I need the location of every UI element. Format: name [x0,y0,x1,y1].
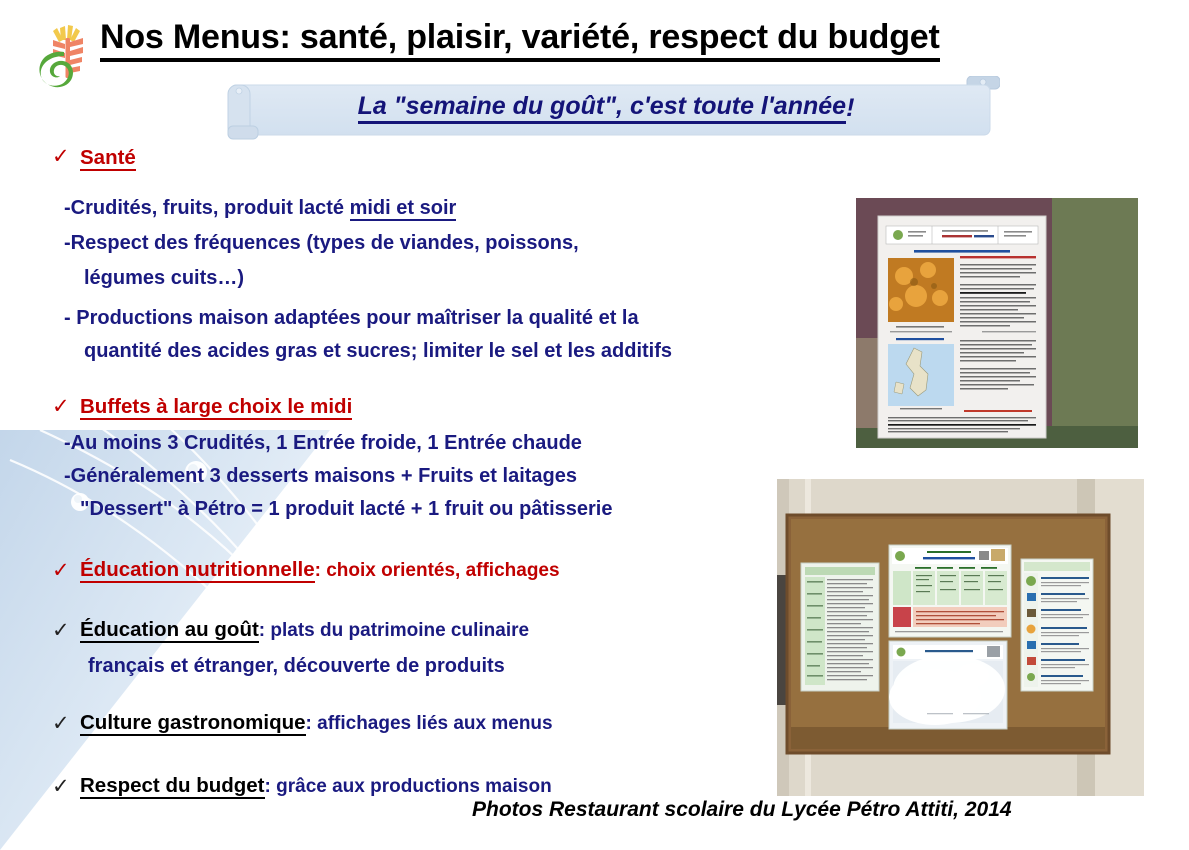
sante-line-4-pre: Productions maison adaptées pour maîtris… [71,307,639,329]
scroll-banner-underlined: La "semaine du goût", c'est toute l'anné… [358,92,846,124]
buffets-line-2-pre: Généralement 3 desserts maisons + Fruits… [71,465,577,487]
bullet-respect-du-budget-desc: : grâce aux productions maison [265,776,552,797]
sante-line-3: légumes cuits…) [84,267,244,290]
bullet-respect-du-budget-label: Respect du budget [80,774,265,799]
buffets-line-1-pre: Au moins 3 Crudités, 1 Entrée froide, 1 … [71,432,582,454]
bullet-education-au-gout: Éducation au goût: plats du patrimoine c… [80,618,529,642]
photo-affiche-murale [856,198,1138,448]
dash-marker: - [64,307,71,330]
lycee-logo-icon [36,22,98,88]
bullet-education-nutritionnelle-label: Éducation nutritionnelle [80,558,315,583]
bullet-education-au-gout-desc: : plats du patrimoine culinaire [259,620,529,641]
sante-line-4: - Productions maison adaptées pour maîtr… [64,307,639,330]
check-icon-respect-du-budget: ✓ [52,776,70,797]
bullet-culture-gastronomique-desc: : affichages liés aux menus [306,713,553,734]
bullet-respect-du-budget: Respect du budget: grâce aux productions… [80,774,552,798]
slide-title: Nos Menus: santé, plaisir, variété, resp… [100,18,1140,62]
sante-line-1-pre: Crudités, fruits, produit lacté [71,197,350,219]
sante-line-2-pre: Respect des fréquences (types de viandes… [71,232,579,254]
dash-marker: - [64,232,71,255]
bullet-education-nutritionnelle-desc: : choix orientés, affichages [315,560,560,581]
sante-line-5-pre: quantité des acides gras et sucres; limi… [84,340,672,362]
check-icon-sante: ✓ [52,146,70,167]
check-icon-education-nutritionnelle: ✓ [52,560,70,581]
bullet-culture-gastronomique: Culture gastronomique: affichages liés a… [80,711,553,735]
dash-marker: - [64,197,71,220]
dash-marker: - [64,432,71,455]
buffets-line-2: - Généralement 3 desserts maisons + Frui… [64,465,577,488]
bullet-education-au-gout-label: Éducation au goût [80,618,259,643]
check-icon-education-au-gout: ✓ [52,620,70,641]
buffets-line-3: "Dessert" à Pétro = 1 produit lacté + 1 … [80,498,612,521]
sante-line-5: quantité des acides gras et sucres; limi… [84,340,672,363]
heading-buffets: Buffets à large choix le midi [80,395,352,419]
buffets-line-1: - Au moins 3 Crudités, 1 Entrée froide, … [64,432,582,455]
sante-line-3-pre: légumes cuits…) [84,267,244,289]
check-icon-buffets: ✓ [52,396,70,417]
check-icon-culture-gastronomique: ✓ [52,713,70,734]
scroll-banner: La "semaine du goût", c'est toute l'anné… [212,76,1000,140]
sante-line-1: - Crudités, fruits, produit lacté midi e… [64,197,456,220]
scroll-banner-suffix: ! [846,94,854,123]
slide-title-text: Nos Menus: santé, plaisir, variété, resp… [100,18,940,62]
buffets-line-3-pre: "Dessert" à Pétro = 1 produit lacté + 1 … [80,498,612,520]
bullet-education-nutritionnelle: Éducation nutritionnelle: choix orientés… [80,558,560,582]
sante-line-1-underlined: midi et soir [350,197,457,221]
scroll-banner-text: La "semaine du goût", c'est toute l'anné… [212,76,1000,140]
bullet-education-au-gout-line2: français et étranger, découverte de prod… [88,655,505,678]
photo-caption: Photos Restaurant scolaire du Lycée Pétr… [472,798,1012,822]
dash-marker: - [64,465,71,488]
heading-sante: Santé [80,146,136,170]
heading-buffets-text: Buffets à large choix le midi [80,395,352,420]
bullet-culture-gastronomique-label: Culture gastronomique [80,711,306,736]
slide-root: Nos Menus: santé, plaisir, variété, resp… [0,0,1189,850]
sante-line-2: - Respect des fréquences (types de viand… [64,232,579,255]
photo-panneau-affichage [777,479,1144,796]
heading-sante-text: Santé [80,146,136,171]
